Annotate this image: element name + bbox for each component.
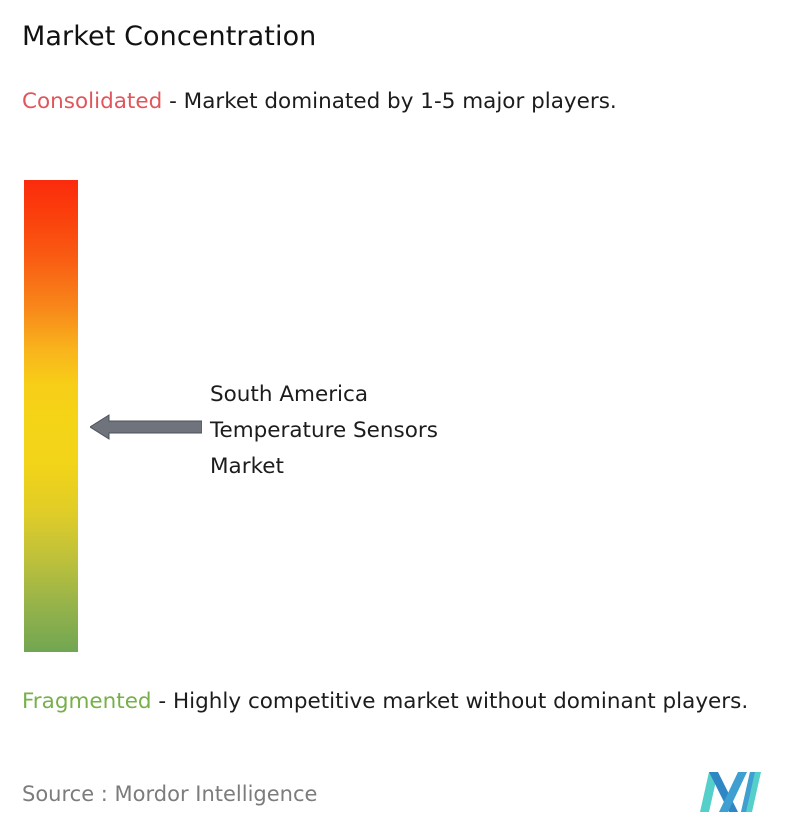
legend-key-fragmented: Fragmented <box>22 689 152 714</box>
mordor-intelligence-logo-icon <box>697 770 765 814</box>
legend-fragmented: Fragmented - Highly competitive market w… <box>22 686 784 717</box>
callout-label: South America Temperature Sensors Market <box>210 377 550 485</box>
legend-consolidated: Consolidated - Market dominated by 1-5 m… <box>22 86 784 117</box>
legend-description-fragmented: - Highly competitive market without domi… <box>152 689 749 714</box>
page-title: Market Concentration <box>22 20 316 54</box>
legend-description-consolidated: - Market dominated by 1-5 major players. <box>162 89 617 114</box>
legend-key-consolidated: Consolidated <box>22 89 162 114</box>
callout-label-line-3: Market <box>210 449 550 485</box>
callout-label-line-2: Temperature Sensors <box>210 413 550 449</box>
concentration-gradient-bar <box>24 180 78 652</box>
source-attribution: Source : Mordor Intelligence <box>22 780 317 808</box>
arrow-left-icon <box>90 414 202 440</box>
callout-label-line-1: South America <box>210 377 550 413</box>
